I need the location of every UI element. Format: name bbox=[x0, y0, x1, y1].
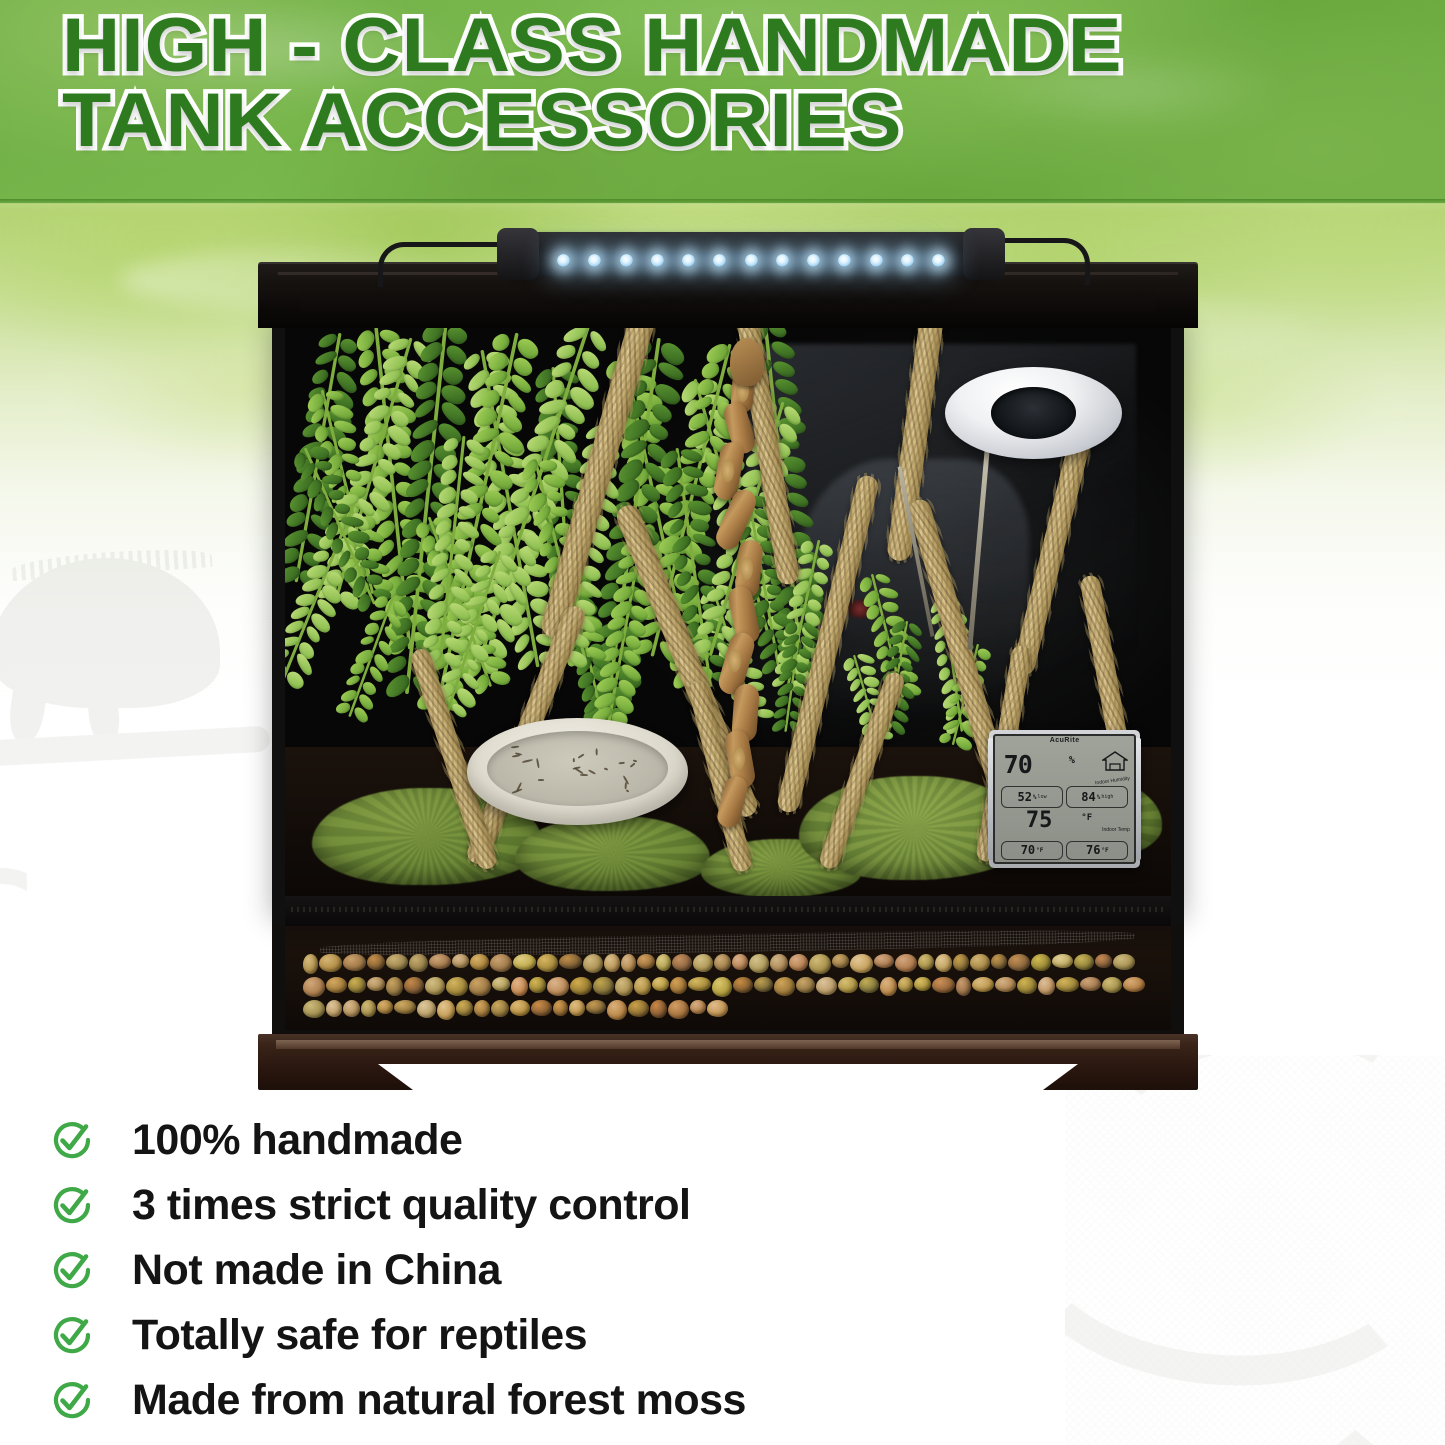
lid-shoulder bbox=[260, 288, 300, 312]
feature-item: Totally safe for reptiles bbox=[50, 1303, 950, 1368]
snake-watermark bbox=[1065, 1055, 1445, 1445]
clay-pebble bbox=[816, 977, 838, 995]
terrarium-product: AcuRite 70 % Indoor Humidity 52%low bbox=[258, 228, 1198, 1088]
clay-pebble bbox=[832, 954, 849, 969]
clay-pebble bbox=[809, 954, 831, 974]
feature-label: Totally safe for reptiles bbox=[132, 1311, 587, 1360]
clay-pebble bbox=[303, 954, 319, 974]
clay-pebble bbox=[859, 977, 880, 994]
clay-pebble bbox=[789, 954, 808, 971]
clay-pebble bbox=[386, 977, 403, 996]
clay-pebble bbox=[652, 977, 669, 991]
house-icon bbox=[1102, 751, 1128, 771]
clay-pebble bbox=[754, 977, 773, 993]
bowl-debris bbox=[536, 758, 540, 768]
clay-pebble bbox=[770, 954, 788, 972]
clay-pebble bbox=[707, 1000, 729, 1017]
clay-pebble bbox=[425, 977, 445, 995]
clay-pebble bbox=[404, 977, 424, 994]
feature-item: 3 times strict quality control bbox=[50, 1173, 950, 1238]
clay-pebble bbox=[953, 954, 969, 972]
led-light-bar bbox=[511, 232, 991, 276]
clay-pebble bbox=[319, 954, 342, 973]
clay-pebble bbox=[898, 977, 914, 993]
clay-pebble bbox=[672, 954, 692, 972]
temp-low-unit: °F bbox=[1036, 847, 1043, 854]
led-dot bbox=[838, 254, 851, 267]
bowl-debris bbox=[630, 763, 636, 768]
led-dot bbox=[776, 254, 789, 267]
clay-pebble bbox=[1056, 977, 1079, 992]
clay-pebble bbox=[668, 1000, 689, 1020]
clay-pebble bbox=[469, 977, 491, 997]
temperature-minmax-row: 70°F 76°F bbox=[1001, 841, 1129, 860]
clay-pebble bbox=[429, 954, 451, 969]
led-endcap bbox=[963, 228, 1005, 280]
clay-pebble bbox=[1095, 954, 1112, 969]
humidity-label: Indoor Humidity bbox=[1095, 775, 1131, 786]
clay-pebble bbox=[714, 954, 732, 972]
clay-pebble bbox=[446, 977, 468, 996]
terrarium-glass-enclosure: AcuRite 70 % Indoor Humidity 52%low bbox=[272, 312, 1184, 910]
chameleon-branch bbox=[0, 726, 270, 769]
clay-pebble bbox=[490, 954, 512, 972]
bowl-debris bbox=[580, 774, 588, 776]
clay-pebble bbox=[583, 954, 604, 974]
clay-pebble bbox=[615, 977, 633, 996]
clay-pebble bbox=[1017, 977, 1037, 995]
humidity-low-value: 52 bbox=[1017, 790, 1031, 804]
temp-high-unit: °F bbox=[1101, 847, 1108, 854]
temperature-label: Indoor Temp bbox=[1102, 827, 1130, 833]
led-dot bbox=[651, 254, 664, 267]
humidity-high-value: 84 bbox=[1081, 790, 1095, 804]
clay-pebble bbox=[712, 977, 732, 997]
feature-item: Made from natural forest moss bbox=[50, 1368, 950, 1433]
clay-pebble bbox=[386, 954, 409, 970]
clay-pebble bbox=[637, 954, 655, 969]
clay-pebble bbox=[343, 1000, 360, 1017]
bowl-debris bbox=[573, 758, 575, 762]
water-bowl-basin bbox=[487, 731, 669, 806]
bowl-debris bbox=[512, 788, 523, 794]
clay-pebble bbox=[628, 1000, 650, 1017]
clay-pebble bbox=[348, 977, 366, 993]
clay-pebble bbox=[409, 954, 428, 972]
humidity-high-cell: 84%high bbox=[1066, 786, 1128, 807]
clay-pebble bbox=[531, 1000, 552, 1017]
clay-pebble bbox=[492, 977, 510, 992]
habitat-scene: AcuRite 70 % Indoor Humidity 52%low bbox=[285, 321, 1171, 897]
clay-pebble bbox=[850, 954, 872, 973]
humidity-high-tag: high bbox=[1101, 794, 1113, 800]
ring-opening bbox=[991, 387, 1076, 439]
humidity-value: 70 bbox=[1004, 752, 1032, 777]
led-dot bbox=[901, 254, 914, 267]
clay-pebble bbox=[956, 977, 971, 996]
check-circle-icon bbox=[50, 1184, 94, 1228]
clay-pebble bbox=[650, 1000, 666, 1018]
clay-pebble bbox=[1102, 977, 1122, 993]
led-dot bbox=[932, 254, 945, 267]
bowl-debris bbox=[538, 779, 544, 781]
base-notch-cutout bbox=[378, 1064, 1078, 1090]
check-circle-icon bbox=[50, 1249, 94, 1293]
led-dot bbox=[807, 254, 820, 267]
clay-pebble bbox=[621, 954, 636, 973]
feature-label: Made from natural forest moss bbox=[132, 1376, 746, 1425]
clay-pebble bbox=[604, 954, 619, 973]
led-strip bbox=[557, 252, 945, 269]
feature-label: 3 times strict quality control bbox=[132, 1181, 690, 1230]
lid-shoulder bbox=[1156, 288, 1196, 312]
clay-pebble bbox=[510, 1000, 530, 1016]
clay-pebble bbox=[547, 977, 569, 996]
clay-pebble bbox=[513, 954, 536, 970]
bowl-debris bbox=[588, 769, 596, 775]
led-dot bbox=[682, 254, 695, 267]
clay-pebble bbox=[932, 977, 955, 994]
clay-pebble bbox=[895, 954, 917, 972]
clay-pebble bbox=[361, 1000, 376, 1017]
clay-pebble bbox=[1123, 977, 1145, 993]
clay-pebble bbox=[377, 1000, 393, 1014]
feature-label: 100% handmade bbox=[132, 1116, 462, 1165]
snake-head bbox=[730, 338, 764, 386]
led-dot bbox=[745, 254, 758, 267]
clay-pebble bbox=[874, 954, 895, 969]
clay-pebble bbox=[1080, 977, 1101, 991]
clay-pebble bbox=[670, 977, 687, 994]
clay-pebble bbox=[749, 954, 769, 974]
clay-pebble bbox=[1031, 954, 1051, 972]
led-dot bbox=[588, 254, 601, 267]
temperature-unit: °F bbox=[1081, 813, 1092, 823]
bowl-debris bbox=[596, 748, 598, 755]
led-dot bbox=[620, 254, 633, 267]
humidity-low-unit: % bbox=[1033, 794, 1037, 801]
humidity-unit: % bbox=[1069, 755, 1075, 766]
ventilation-strip bbox=[272, 896, 1184, 926]
clay-pebble bbox=[935, 954, 951, 972]
clay-pebble bbox=[417, 1000, 436, 1018]
bowl-debris bbox=[512, 754, 520, 757]
bowl-debris bbox=[626, 789, 630, 792]
clay-pebble bbox=[437, 1000, 455, 1020]
clay-pebble bbox=[796, 977, 814, 993]
bowl-debris bbox=[619, 762, 625, 765]
clay-pebble bbox=[733, 977, 753, 993]
header-banner: HIGH - CLASS HANDMADE TANK ACCESSORIES bbox=[0, 0, 1445, 203]
feature-item: 100% handmade bbox=[50, 1108, 950, 1173]
thermo-lcd-screen: AcuRite 70 % Indoor Humidity 52%low bbox=[993, 734, 1136, 864]
clay-pebble bbox=[634, 977, 651, 996]
clay-pebble bbox=[880, 977, 896, 996]
clay-pebble bbox=[732, 954, 748, 970]
base-lip-highlight bbox=[276, 1040, 1180, 1049]
led-dot bbox=[870, 254, 883, 267]
digital-thermometer-hygrometer: AcuRite 70 % Indoor Humidity 52%low bbox=[989, 730, 1140, 868]
clay-pebble bbox=[537, 954, 559, 972]
clay-pebble bbox=[491, 1000, 508, 1017]
led-dot bbox=[713, 254, 726, 267]
product-marketing-image: HIGH - CLASS HANDMADE TANK ACCESSORIES bbox=[0, 0, 1445, 1445]
clay-pebble bbox=[303, 1000, 325, 1018]
snake-pattern-spot bbox=[732, 747, 745, 770]
clay-pebble bbox=[1052, 954, 1073, 968]
bowl-debris bbox=[511, 745, 519, 748]
clay-pebble bbox=[838, 977, 858, 993]
clay-pebble bbox=[656, 954, 671, 971]
clay-pebble-layer bbox=[303, 952, 1154, 1021]
clay-pebble bbox=[367, 977, 385, 992]
drainage-chamber bbox=[272, 918, 1184, 1043]
page-title: HIGH - CLASS HANDMADE TANK ACCESSORIES bbox=[62, 8, 1445, 158]
clay-pebble bbox=[529, 977, 545, 993]
clay-pebble bbox=[1008, 954, 1030, 971]
snake-scale-texture bbox=[1065, 1055, 1445, 1445]
feature-list: 100% handmade3 times strict quality cont… bbox=[50, 1108, 950, 1433]
humidity-low-cell: 52%low bbox=[1001, 786, 1063, 807]
clay-pebble bbox=[569, 1000, 585, 1017]
clay-pebble bbox=[456, 1000, 473, 1016]
clay-pebble bbox=[918, 954, 934, 970]
feature-item: Not made in China bbox=[50, 1238, 950, 1303]
clay-pebble bbox=[470, 954, 489, 970]
clay-pebble bbox=[1038, 977, 1055, 996]
clay-pebble bbox=[593, 977, 613, 996]
clay-pebble bbox=[559, 954, 581, 969]
clay-pebble bbox=[995, 977, 1016, 993]
check-circle-icon bbox=[50, 1119, 94, 1163]
clay-pebble bbox=[586, 1000, 607, 1015]
clay-pebble bbox=[688, 977, 711, 991]
clay-pebble bbox=[326, 977, 347, 993]
humidity-high-unit: % bbox=[1097, 794, 1101, 801]
clay-pebble bbox=[553, 1000, 568, 1017]
bowl-debris bbox=[578, 754, 585, 759]
clay-pebble bbox=[1074, 954, 1094, 971]
temp-high-value: 76 bbox=[1086, 843, 1100, 857]
humidity-minmax-row: 52%low 84%high bbox=[1001, 786, 1129, 807]
temp-low-value: 70 bbox=[1021, 843, 1035, 857]
clay-pebble bbox=[303, 977, 326, 997]
terrarium-base-stand bbox=[258, 1034, 1198, 1090]
temperature-value: 75 bbox=[1026, 810, 1053, 832]
temp-low-cell: 70°F bbox=[1001, 841, 1063, 860]
clay-pebble bbox=[1113, 954, 1135, 970]
snake-pattern-spot bbox=[721, 459, 734, 482]
clay-pebble bbox=[367, 954, 385, 970]
humidity-low-tag: low bbox=[1038, 794, 1047, 800]
header-bottom-edge bbox=[0, 199, 1445, 204]
clay-pebble bbox=[970, 954, 990, 971]
ceramic-water-bowl bbox=[467, 718, 689, 825]
clay-pebble bbox=[474, 1000, 490, 1017]
clay-pebble bbox=[690, 1000, 706, 1014]
feature-label: Not made in China bbox=[132, 1246, 501, 1295]
clay-pebble bbox=[607, 1000, 626, 1020]
snake-body-segment bbox=[715, 774, 750, 830]
chameleon-watermark bbox=[0, 548, 260, 848]
white-ring-vent bbox=[945, 367, 1122, 459]
clay-pebble bbox=[972, 977, 994, 992]
clay-pebble bbox=[511, 977, 528, 997]
thermo-brand-label: AcuRite bbox=[995, 737, 1134, 744]
check-circle-icon bbox=[50, 1379, 94, 1423]
clay-pebble bbox=[774, 977, 796, 996]
temp-high-cell: 76°F bbox=[1066, 841, 1128, 860]
clay-pebble bbox=[914, 977, 930, 991]
clay-pebble bbox=[570, 977, 592, 995]
clay-pebble bbox=[452, 954, 469, 968]
clay-pebble bbox=[343, 954, 366, 972]
check-circle-icon bbox=[50, 1314, 94, 1358]
clay-pebble bbox=[693, 954, 712, 972]
led-endcap bbox=[497, 228, 539, 280]
clay-pebble bbox=[394, 1000, 415, 1014]
bowl-debris bbox=[521, 759, 532, 763]
clay-pebble bbox=[326, 1000, 342, 1017]
clay-pebble bbox=[991, 954, 1007, 969]
led-dot bbox=[557, 254, 570, 267]
bowl-debris bbox=[603, 768, 607, 771]
